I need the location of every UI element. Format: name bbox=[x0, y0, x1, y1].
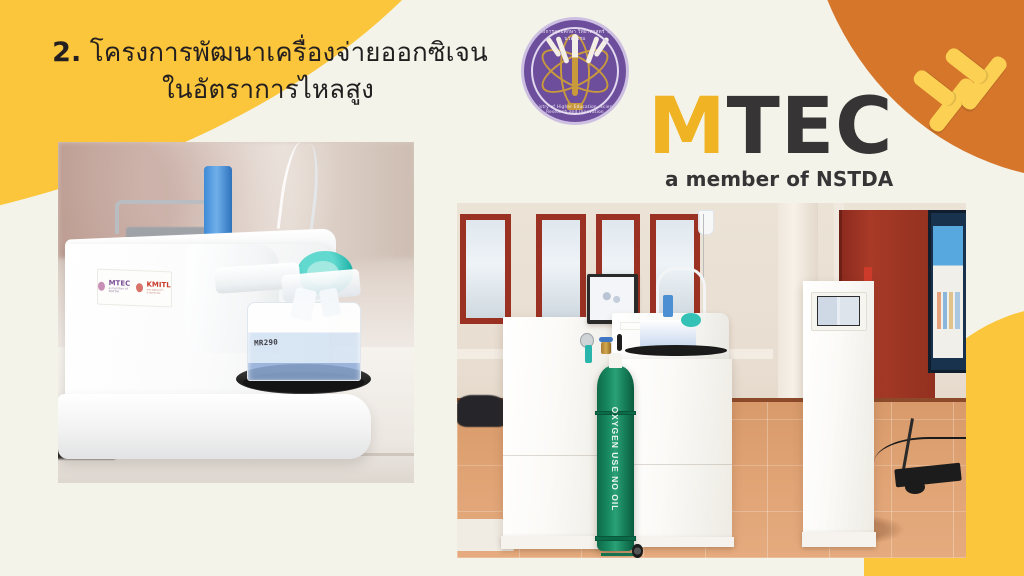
tablet-screen bbox=[817, 296, 860, 326]
cart-wheel bbox=[632, 544, 643, 559]
window bbox=[536, 214, 586, 325]
mtec-sticker-mark bbox=[98, 282, 105, 291]
mtec-tagline: a member of NSTDA bbox=[648, 167, 893, 191]
double-chevron-icon bbox=[920, 58, 1016, 174]
seal-text-top: กระทรวงการอุดมศึกษา วิทยาศาสตร์ วิจัยและ… bbox=[524, 29, 626, 43]
blue-tube-connector bbox=[204, 166, 232, 241]
photo-exhibition-room: OXYGEN USE NO OIL bbox=[457, 203, 966, 558]
sticker-kmitl-text: KMITLพระจอมเกล้าลาดกระบัง bbox=[147, 282, 171, 296]
mtec-wordmark: MTEC bbox=[648, 92, 893, 164]
floor-bag bbox=[457, 395, 508, 427]
seal-text-bottom: Ministry of Higher Education, Science, R… bbox=[524, 104, 626, 114]
title-line-2: ในอัตราการไหลสูง bbox=[8, 72, 528, 109]
kmitl-sticker-mark bbox=[136, 283, 143, 292]
device-logo-sticker: MTECa member of NSTDA KMITLพระจอมเกล้าลา… bbox=[97, 268, 172, 307]
slide-canvas: 2. โครงการพัฒนาเครื่องจ่ายออกซิเจน ในอัต… bbox=[0, 0, 1024, 576]
flow-meter bbox=[585, 345, 593, 362]
photo-device-closeup: MTECa member of NSTDA KMITLพระจอมเกล้าลา… bbox=[58, 142, 414, 483]
monitor-screen-graphic bbox=[937, 292, 960, 329]
cylinder-handle-grip bbox=[617, 334, 622, 351]
monitor-screen-content bbox=[933, 226, 964, 358]
page-title: 2. โครงการพัฒนาเครื่องจ่ายออกซิเจน ในอัต… bbox=[8, 34, 528, 109]
cylinder-warning-label: OXYGEN USE NO OIL bbox=[610, 406, 620, 511]
sticker-mtec-text: MTECa member of NSTDA bbox=[109, 280, 133, 294]
tablet-display-right bbox=[811, 292, 867, 331]
presentation-monitor bbox=[928, 210, 966, 373]
device-base bbox=[58, 394, 371, 459]
cylinder-strap bbox=[595, 536, 636, 540]
mhesi-seal-logo: กระทรวงการอุดมศึกษา วิทยาศาสตร์ วิจัยและ… bbox=[521, 17, 629, 125]
cylinder-regulator-assembly bbox=[577, 333, 632, 363]
window bbox=[460, 214, 510, 325]
title-number: 2. bbox=[52, 37, 81, 68]
chamber-seating-ring bbox=[625, 345, 727, 356]
mtec-letter-m: M bbox=[648, 82, 727, 172]
mtec-letters-tec: TEC bbox=[727, 82, 894, 172]
oxygen-cylinder: OXYGEN USE NO OIL bbox=[597, 366, 634, 551]
iv-drip-bag bbox=[698, 210, 713, 235]
mtec-logo: MTEC a member of NSTDA bbox=[648, 92, 893, 191]
title-line-1: 2. โครงการพัฒนาเครื่องจ่ายออกซิเจน bbox=[8, 34, 528, 72]
brass-regulator-body bbox=[601, 342, 611, 354]
wall-sign bbox=[864, 267, 872, 281]
title-text-line-1: โครงการพัฒนาเครื่องจ่ายออกซิเจน bbox=[90, 38, 488, 68]
pedestal-base bbox=[802, 532, 876, 547]
blue-tube-connector bbox=[663, 295, 673, 316]
sticker-mtec-sub: a member of NSTDA bbox=[109, 287, 133, 294]
sticker-kmitl-sub: พระจอมเกล้าลาดกระบัง bbox=[147, 289, 171, 296]
